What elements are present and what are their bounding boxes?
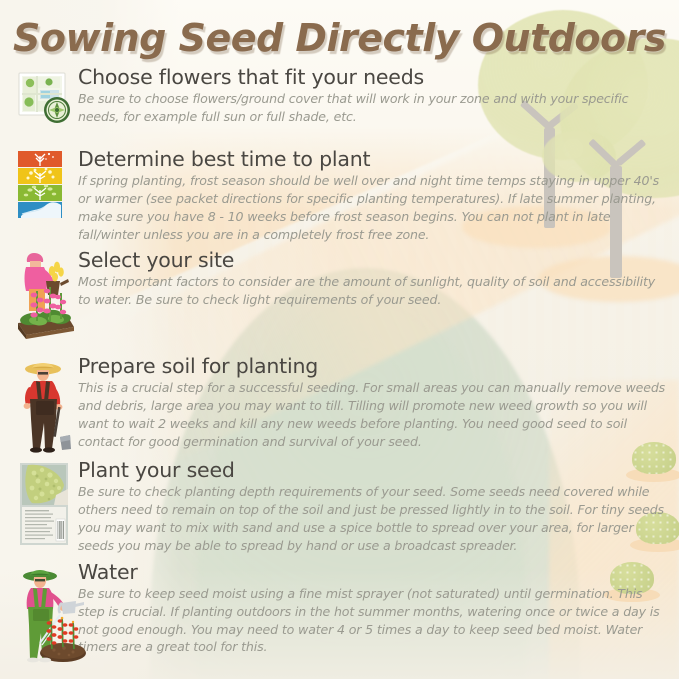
step-heading: Choose flowers that fit your needs — [78, 66, 671, 89]
step-icon-slot — [10, 150, 78, 232]
page-title: Sowing Seed Directly Outdoors — [0, 16, 679, 60]
step-body: Be sure to choose flowers/ground cover t… — [78, 90, 671, 126]
step-heading: Select your site — [78, 249, 671, 272]
step-heading: Plant your seed — [78, 459, 671, 482]
step-text: Water Be sure to keep seed moist using a… — [78, 561, 679, 656]
step-text: Plant your seed Be sure to check plantin… — [78, 459, 679, 554]
step-icon-slot — [10, 563, 78, 663]
step-icon-slot — [10, 251, 78, 347]
garden-plan-compass-icon — [16, 68, 74, 130]
step-text: Choose flowers that fit your needs Be su… — [78, 66, 679, 126]
four-seasons-icon — [16, 150, 68, 224]
step-heading: Water — [78, 561, 671, 584]
infographic-poster: Sowing Seed Directly Outdoors — [0, 0, 679, 679]
step-body: If spring planting, frost season should … — [78, 172, 671, 244]
step-item: Plant your seed Be sure to check plantin… — [0, 459, 679, 554]
step-icon-slot — [10, 68, 78, 142]
step-body: This is a crucial step for a successful … — [78, 379, 671, 451]
gardener-with-shovel-icon — [16, 357, 74, 453]
step-item: Select your site Most important factors … — [0, 249, 679, 347]
step-heading: Prepare soil for planting — [78, 355, 671, 378]
step-item: Prepare soil for planting This is a cruc… — [0, 355, 679, 453]
step-body: Be sure to check planting depth requirem… — [78, 483, 671, 555]
steps-list: Choose flowers that fit your needs Be su… — [0, 66, 679, 663]
step-icon-slot — [10, 461, 78, 553]
step-body: Be sure to keep seed moist using a fine … — [78, 585, 671, 657]
gardener-watering-icon — [16, 563, 88, 663]
seed-packet-icon — [16, 461, 74, 549]
step-text: Determine best time to plant If spring p… — [78, 148, 679, 243]
step-text: Select your site Most important factors … — [78, 249, 679, 309]
step-item: Choose flowers that fit your needs Be su… — [0, 66, 679, 142]
planter-box-flowers-icon — [16, 251, 76, 339]
step-item: Water Be sure to keep seed moist using a… — [0, 561, 679, 663]
step-icon-slot — [10, 357, 78, 453]
step-text: Prepare soil for planting This is a cruc… — [78, 355, 679, 450]
step-item: Determine best time to plant If spring p… — [0, 148, 679, 243]
step-heading: Determine best time to plant — [78, 148, 671, 171]
step-body: Most important factors to consider are t… — [78, 273, 671, 309]
